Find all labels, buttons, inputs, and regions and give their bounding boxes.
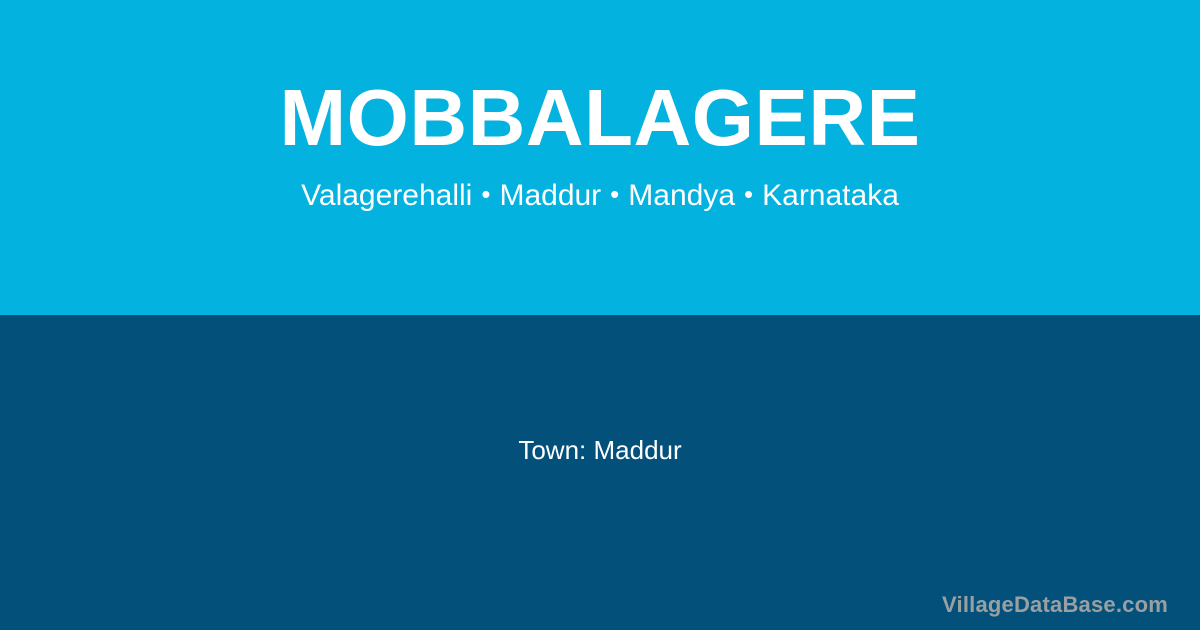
breadcrumb-separator: •	[735, 179, 762, 210]
breadcrumb-item-village: Valagerehalli	[301, 179, 472, 212]
header-band: MOBBALAGERE Valagerehalli•Maddur•Mandya•…	[0, 0, 1200, 315]
village-info-card: MOBBALAGERE Valagerehalli•Maddur•Mandya•…	[0, 0, 1200, 630]
breadcrumb-item-state: Karnataka	[762, 179, 899, 212]
breadcrumb-separator: •	[472, 179, 499, 210]
breadcrumb-separator: •	[601, 179, 628, 210]
detail-band: Town: Maddur	[0, 315, 1200, 630]
breadcrumb-item-district: Mandya	[628, 179, 735, 212]
page-title: MOBBALAGERE	[279, 78, 920, 158]
detail-town: Town: Maddur	[518, 434, 681, 468]
breadcrumb-item-taluk: Maddur	[499, 179, 601, 212]
site-watermark: VillageDataBase.com	[942, 592, 1168, 618]
breadcrumb: Valagerehalli•Maddur•Mandya•Karnataka	[301, 178, 899, 214]
